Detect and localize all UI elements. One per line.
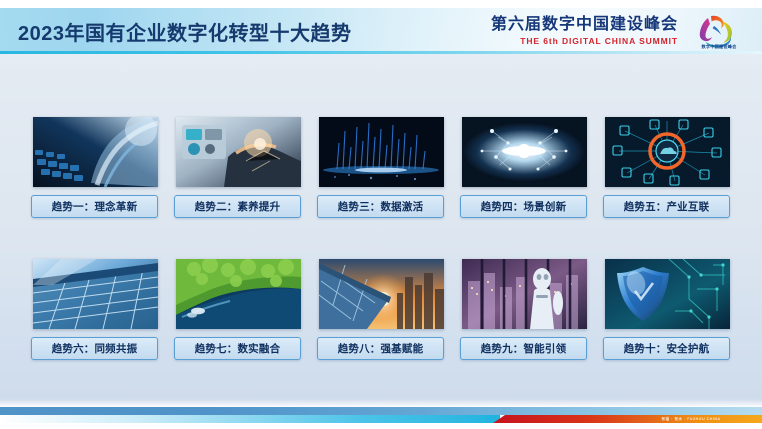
- trend-label: 趋势四：场景创新: [460, 195, 587, 218]
- trend-card[interactable]: 趋势五：产业互联: [605, 117, 730, 237]
- footer-blue-band: [0, 407, 762, 415]
- trend-card[interactable]: 趋势四：场景创新: [462, 117, 587, 237]
- trend-label: 趋势三：数据激活: [317, 195, 444, 218]
- trend-card[interactable]: 趋势一：理念革新: [33, 117, 158, 237]
- trend-label: 趋势一：理念革新: [31, 195, 158, 218]
- trend-thumbnail: [462, 117, 587, 187]
- page-title: 2023年国有企业数字化转型十大趋势: [18, 17, 352, 46]
- trend-card[interactable]: 趋势六：同频共振: [33, 259, 158, 379]
- trend-thumbnail: [462, 259, 587, 329]
- trend-thumbnail: [605, 259, 730, 329]
- trend-label: 趋势六：同频共振: [31, 337, 158, 360]
- trend-thumbnail: [319, 259, 444, 329]
- trend-label: 趋势二：素养提升: [174, 195, 301, 218]
- slide-header: 2023年国有企业数字化转型十大趋势 第六届数字中国建设峰会 THE 6th D…: [0, 8, 762, 54]
- trend-card[interactable]: 趋势三：数据激活: [319, 117, 444, 237]
- slide-footer: 有福 · 有水 · FUZHOU CHINA: [0, 407, 762, 429]
- trend-row-2: 趋势六：同频共振: [0, 259, 762, 379]
- trend-card[interactable]: 趋势七：数实融合: [176, 259, 301, 379]
- footer-cyan-stripe: [0, 415, 500, 423]
- trend-label: 趋势五：产业互联: [603, 195, 730, 218]
- trend-thumbnail: [33, 259, 158, 329]
- trend-card[interactable]: 趋势九：智能引领: [462, 259, 587, 379]
- trend-card[interactable]: 趋势八：强基赋能: [319, 259, 444, 379]
- trend-thumbnail: [176, 117, 301, 187]
- trend-thumbnail: [33, 117, 158, 187]
- trend-thumbnail: [319, 117, 444, 187]
- trend-thumbnail: [605, 117, 730, 187]
- summit-branding: 第六届数字中国建设峰会 THE 6th DIGITAL CHINA SUMMIT: [491, 16, 678, 46]
- trend-row-1: 趋势一：理念革新: [0, 117, 762, 237]
- logo-subtitle-en: DIGITAL CHINA SUMMIT: [684, 50, 754, 54]
- presentation-slide: 2023年国有企业数字化转型十大趋势 第六届数字中国建设峰会 THE 6th D…: [0, 0, 762, 429]
- trend-label: 趋势七：数实融合: [174, 337, 301, 360]
- digital-china-summit-logo-icon: 数字中国建设峰会 DIGITAL CHINA SUMMIT: [684, 12, 754, 54]
- trend-card[interactable]: 趋势十：安全护航: [605, 259, 730, 379]
- trend-label: 趋势十：安全护航: [603, 337, 730, 360]
- trend-card[interactable]: 趋势二：素养提升: [176, 117, 301, 237]
- trend-card-grid: 趋势一：理念革新: [0, 62, 762, 392]
- summit-title-cn: 第六届数字中国建设峰会: [491, 16, 678, 34]
- trend-label: 趋势八：强基赋能: [317, 337, 444, 360]
- trend-thumbnail: [176, 259, 301, 329]
- summit-title-en: THE 6th DIGITAL CHINA SUMMIT: [491, 36, 678, 46]
- logo-subtitle-cn: 数字中国建设峰会: [684, 44, 754, 49]
- trend-label: 趋势九：智能引领: [460, 337, 587, 360]
- footer-tagline: 有福 · 有水 · FUZHOU CHINA: [620, 415, 762, 423]
